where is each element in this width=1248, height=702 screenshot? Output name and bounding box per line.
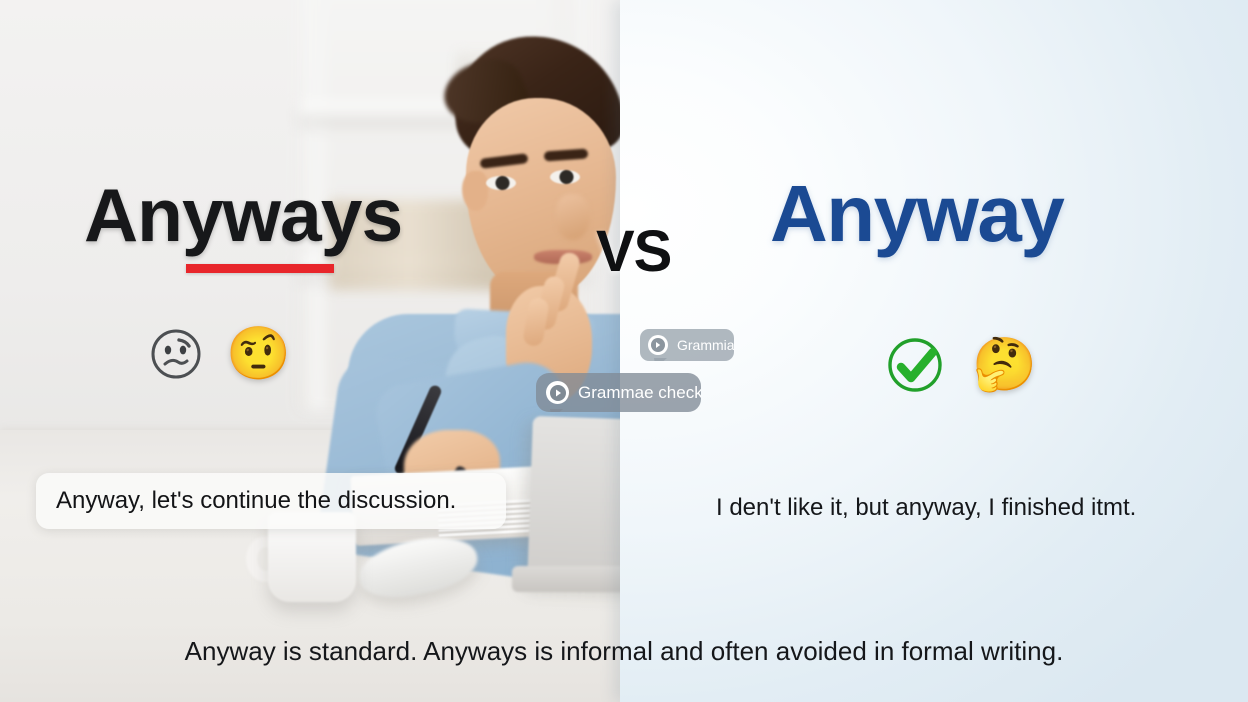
eye xyxy=(486,176,516,190)
incorrect-underline xyxy=(186,264,334,273)
eye xyxy=(550,170,580,184)
grammar-chip-large[interactable]: Grammae check xyxy=(536,373,701,412)
left-word-title: Anyways xyxy=(84,172,402,258)
grammar-arrow-icon xyxy=(648,335,668,355)
right-word-title: Anyway xyxy=(770,168,1063,260)
versus-label: VS xyxy=(596,218,671,285)
left-icon-row: 🤨 xyxy=(148,326,291,382)
laptop-base xyxy=(512,566,620,592)
left-example-text: Anyway, let's continue the discussion. xyxy=(56,487,456,515)
grammar-chip-small[interactable]: Grammiat xyxy=(640,329,734,361)
nose xyxy=(556,194,590,240)
grammar-arrow-icon xyxy=(546,381,569,404)
thinking-face-emoji: 🤔 xyxy=(972,339,1037,391)
left-example-bubble: Anyway, let's continue the discussion. xyxy=(36,473,506,529)
chip-tail xyxy=(550,409,563,412)
right-example-text: I den't like it, but anyway, I finished … xyxy=(716,494,1136,522)
chip-tail xyxy=(654,358,667,361)
ear xyxy=(462,171,488,211)
laptop xyxy=(527,416,620,590)
face xyxy=(466,98,616,296)
thinking-face-emoji: 🤨 xyxy=(226,328,291,380)
right-icon-row: 🤔 xyxy=(884,334,1037,396)
footer-explanation: Anyway is standard. Anyways is informal … xyxy=(0,636,1248,667)
left-panel xyxy=(0,0,620,702)
background-photo xyxy=(0,0,620,702)
confused-face-outline-icon xyxy=(148,326,204,382)
comparison-graphic: Anyways VS Anyway 🤨 🤔 xyxy=(0,0,1248,702)
grammar-chip-small-label: Grammiat xyxy=(677,337,734,353)
green-check-circle-icon xyxy=(884,334,946,396)
grammar-chip-large-label: Grammae check xyxy=(578,383,701,403)
